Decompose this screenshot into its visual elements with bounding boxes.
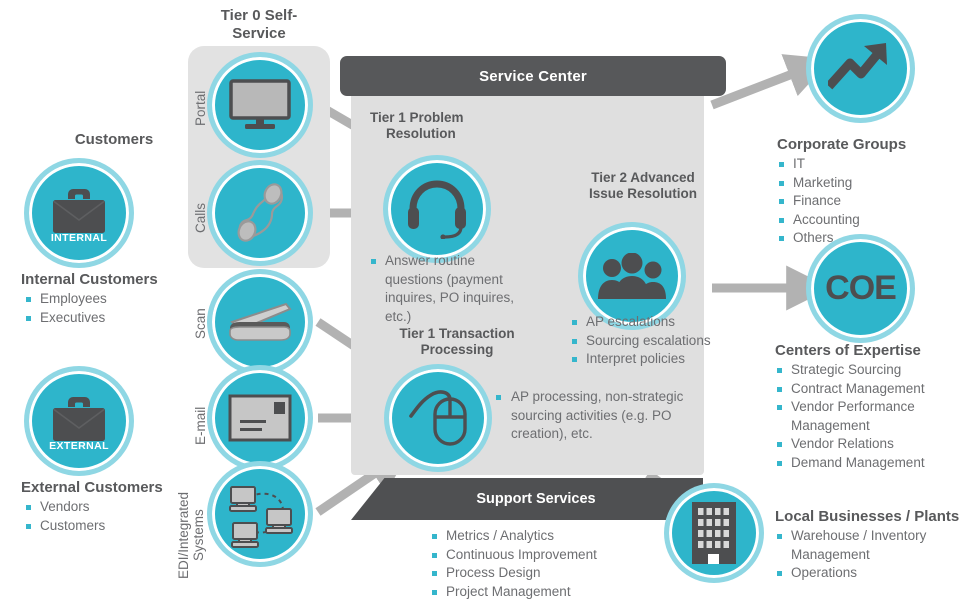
channel-medallion-portal[interactable]	[212, 57, 308, 153]
coe-label: COE	[825, 269, 896, 308]
channel-medallion-calls[interactable]	[212, 165, 308, 261]
service-center-header: Service Center	[340, 56, 726, 96]
corporate-groups-medallion[interactable]	[811, 19, 910, 118]
tier1-transaction-medallion[interactable]	[389, 369, 487, 467]
tier1-transaction-bullets: AP processing, non-strategic sourcing ac…	[492, 388, 707, 444]
list-item: IT	[777, 155, 972, 174]
channel-medallion-scan[interactable]	[212, 274, 308, 370]
corporate-groups-list: IT Marketing Finance Accounting Others	[777, 155, 972, 248]
coe-list: Strategic Sourcing Contract Management V…	[775, 361, 980, 472]
arrow-sc-to-corporate	[712, 68, 808, 105]
tier2-bullets: AP escalations Sourcing escalations Inte…	[570, 313, 730, 369]
tier1-transaction-title-line2: Processing	[366, 342, 548, 358]
support-services-title: Support Services	[351, 478, 703, 520]
list-item: Project Management	[430, 583, 680, 602]
list-item: Demand Management	[775, 454, 980, 473]
office-building-icon	[690, 500, 738, 566]
list-item: Process Design	[430, 564, 680, 583]
tier1-problem-medallion[interactable]	[388, 160, 486, 258]
list-item: Employees	[24, 290, 204, 309]
tier0-title-line2: Service	[189, 25, 329, 43]
people-group-icon	[598, 253, 666, 299]
external-badge: EXTERNAL	[29, 440, 129, 452]
list-item: AP escalations	[570, 313, 730, 332]
list-item: Metrics / Analytics	[430, 527, 680, 546]
tier0-title-line1: Tier 0 Self-	[189, 7, 329, 25]
internal-customers-heading: Internal Customers	[21, 271, 201, 289]
channel-label-scan: Scan	[193, 298, 208, 350]
tier1-problem-title-line2: Resolution	[370, 126, 540, 142]
list-item: Answer routine questions (payment inquir…	[369, 252, 519, 326]
channel-medallion-email[interactable]	[212, 370, 308, 466]
coe-heading: Centers of Expertise	[775, 342, 980, 360]
list-item: Sourcing escalations	[570, 332, 730, 351]
tier2-title-line2: Issue Resolution	[558, 186, 728, 202]
headset-icon	[405, 179, 469, 239]
local-businesses-heading: Local Businesses / Plants	[775, 508, 980, 526]
corporate-groups-heading: Corporate Groups	[777, 136, 977, 154]
tier1-problem-title: Tier 1 Problem Resolution	[370, 110, 540, 142]
network-icon	[223, 479, 297, 549]
list-item: Interpret policies	[570, 350, 730, 369]
tier1-transaction-title: Tier 1 Transaction Processing	[366, 326, 548, 358]
channel-label-calls: Calls	[193, 190, 208, 245]
tier2-medallion[interactable]	[583, 227, 681, 325]
list-item: Vendor Relations	[775, 435, 980, 454]
scanner-icon	[226, 298, 294, 346]
list-item: Warehouse / Inventory Management	[775, 527, 970, 564]
tier1-problem-bullets: Answer routine questions (payment inquir…	[369, 252, 519, 326]
local-businesses-medallion[interactable]	[669, 488, 759, 578]
tier2-title: Tier 2 Advanced Issue Resolution	[558, 170, 728, 202]
list-item: Executives	[24, 309, 204, 328]
channel-label-email: E-mail	[193, 396, 208, 456]
list-item: Finance	[777, 192, 972, 211]
list-item: AP processing, non-strategic sourcing ac…	[492, 388, 707, 444]
channel-medallion-edi[interactable]	[212, 466, 308, 562]
list-item: Strategic Sourcing	[775, 361, 980, 380]
tier2-title-line1: Tier 2 Advanced	[558, 170, 728, 186]
list-item: Accounting	[777, 211, 972, 230]
channel-label-portal: Portal	[193, 78, 208, 138]
tier0-title: Tier 0 Self- Service	[189, 7, 329, 43]
monitor-icon	[229, 79, 291, 131]
coe-medallion[interactable]: COE	[811, 239, 910, 338]
channel-label-edi: EDI/Integrated Systems	[176, 474, 210, 596]
tier1-transaction-title-line1: Tier 1 Transaction	[366, 326, 548, 342]
service-center-title: Service Center	[479, 68, 587, 85]
list-item: Continuous Improvement	[430, 546, 680, 565]
customers-title: Customers	[44, 131, 184, 149]
phone-handset-icon	[231, 182, 289, 244]
envelope-icon	[228, 394, 292, 442]
list-item: Marketing	[777, 174, 972, 193]
internal-customers-medallion	[29, 163, 129, 263]
local-businesses-list: Warehouse / Inventory Management Operati…	[775, 527, 970, 583]
support-services-banner: Support Services	[351, 478, 703, 520]
tier1-problem-title-line1: Tier 1 Problem	[370, 110, 540, 126]
list-item: Contract Management	[775, 380, 980, 399]
computer-mouse-icon	[407, 389, 469, 447]
internal-badge: INTERNAL	[29, 232, 129, 244]
internal-customers-list: Employees Executives	[24, 290, 204, 327]
growth-arrow-icon	[828, 39, 894, 99]
external-customers-medallion	[29, 371, 129, 471]
list-item: Operations	[775, 564, 970, 583]
list-item: Vendor Performance Management	[775, 398, 980, 435]
support-services-list: Metrics / Analytics Continuous Improveme…	[430, 527, 680, 601]
